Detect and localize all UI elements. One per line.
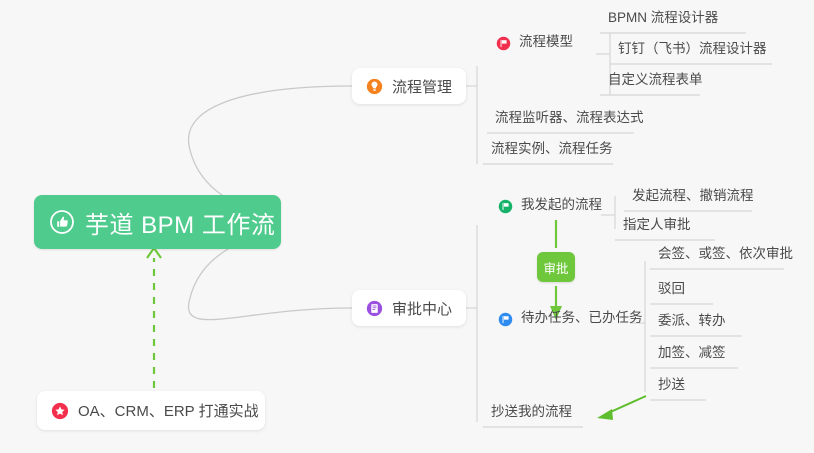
node-cc-to-me[interactable]: 抄送我的流程 — [483, 405, 580, 424]
mindmap-canvas: 芋道 BPM 工作流 流程管理 流程模型 BPMN 流程设计器 钉钉（飞书 — [0, 0, 814, 453]
thumbs-up-icon — [50, 210, 74, 234]
approval-tag-label: 审批 — [543, 258, 568, 277]
node-label-listener-expression: 流程监听器、流程表达式 — [495, 111, 644, 125]
node-start-cancel-process[interactable]: 发起流程、撤销流程 — [624, 189, 762, 208]
branch-label-process-management: 流程管理 — [392, 76, 452, 97]
node-label-dingtalk-feishu-designer: 钉钉（飞书）流程设计器 — [618, 42, 767, 56]
node-label-reject: 驳回 — [658, 282, 685, 296]
node-my-started-processes[interactable]: 我发起的流程 — [492, 198, 610, 217]
root-label: 芋道 BPM 工作流 — [85, 205, 275, 240]
callout-node-integration[interactable]: OA、CRM、ERP 打通实战 — [37, 391, 265, 430]
node-reject[interactable]: 驳回 — [650, 282, 693, 301]
branch-node-process-management[interactable]: 流程管理 — [352, 68, 466, 104]
lightbulb-icon — [366, 78, 383, 95]
flag-green-icon — [498, 199, 513, 214]
node-countersign[interactable]: 会签、或签、依次审批 — [650, 247, 801, 266]
node-label-delegate-transfer: 委派、转办 — [658, 314, 726, 328]
node-process-model[interactable]: 流程模型 — [490, 35, 581, 54]
node-label-todo-done-tasks: 待办任务、已办任务 — [521, 311, 643, 325]
node-instance-task[interactable]: 流程实例、流程任务 — [483, 142, 621, 161]
node-delegate-transfer[interactable]: 委派、转办 — [650, 314, 734, 333]
node-label-custom-process-form: 自定义流程表单 — [608, 73, 703, 87]
arrowhead-callout — [147, 248, 161, 258]
approval-tag[interactable]: 审批 — [537, 252, 575, 282]
node-custom-process-form[interactable]: 自定义流程表单 — [600, 73, 711, 92]
branch-label-approval-center: 审批中心 — [392, 298, 452, 319]
node-cc[interactable]: 抄送 — [650, 378, 693, 397]
node-label-bpmn-designer: BPMN 流程设计器 — [608, 11, 718, 25]
node-assignee-approval[interactable]: 指定人审批 — [615, 218, 699, 237]
node-label-add-remove-sign: 加签、减签 — [658, 346, 726, 360]
node-label-start-cancel-process: 发起流程、撤销流程 — [632, 189, 754, 203]
node-add-remove-sign[interactable]: 加签、减签 — [650, 346, 734, 365]
node-listener-expression[interactable]: 流程监听器、流程表达式 — [487, 111, 652, 130]
arrowhead-cc-link — [597, 409, 613, 420]
star-icon — [51, 402, 69, 420]
node-label-my-started-processes: 我发起的流程 — [521, 198, 602, 212]
node-bpmn-designer[interactable]: BPMN 流程设计器 — [600, 11, 726, 30]
node-label-countersign: 会签、或签、依次审批 — [658, 247, 793, 261]
node-label-cc-to-me: 抄送我的流程 — [491, 405, 572, 419]
node-label-cc: 抄送 — [658, 378, 685, 392]
node-label-instance-task: 流程实例、流程任务 — [491, 142, 613, 156]
node-todo-done-tasks[interactable]: 待办任务、已办任务 — [492, 311, 651, 330]
node-label-process-model: 流程模型 — [519, 35, 573, 49]
flag-blue-icon — [498, 312, 513, 327]
document-purple-icon — [366, 300, 383, 317]
arrow-cc-link — [606, 396, 646, 414]
flag-red-icon — [496, 36, 511, 51]
branch-node-approval-center[interactable]: 审批中心 — [352, 290, 466, 326]
root-node[interactable]: 芋道 BPM 工作流 — [34, 195, 281, 249]
node-label-assignee-approval: 指定人审批 — [623, 218, 691, 232]
node-dingtalk-feishu-designer[interactable]: 钉钉（飞书）流程设计器 — [610, 42, 775, 61]
callout-label: OA、CRM、ERP 打通实战 — [78, 400, 259, 421]
